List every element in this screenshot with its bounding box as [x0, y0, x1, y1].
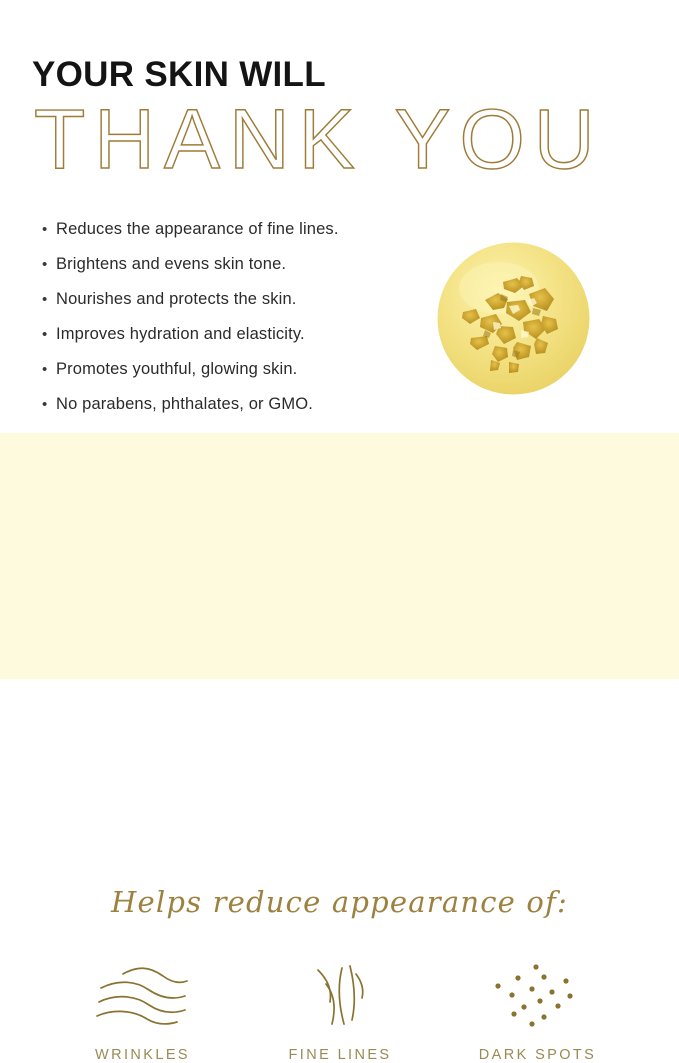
list-item: • Improves hydration and elasticity. [42, 317, 339, 352]
benefits-list: • Reduces the appearance of fine lines. … [42, 212, 339, 422]
bullet-icon: • [42, 387, 56, 422]
list-item-label: Promotes youthful, glowing skin. [56, 352, 297, 387]
benefits-band: Helps reduce appearance of: WRINKLES [0, 433, 679, 679]
bullet-icon: • [42, 352, 56, 387]
bullet-icon: • [42, 282, 56, 317]
wrinkles-waves-icon [91, 961, 195, 1029]
gold-foil-cream-swatch [437, 242, 590, 395]
list-item: • No parabens, phthalates, or GMO. [42, 387, 339, 422]
bullet-icon: • [42, 247, 56, 282]
list-item-label: No parabens, phthalates, or GMO. [56, 387, 313, 422]
list-item: • Nourishes and protects the skin. [42, 282, 339, 317]
headline-outline-thank-you: THANK YOU [34, 104, 646, 176]
list-item: • Reduces the appearance of fine lines. [42, 212, 339, 247]
band-heading-text: Helps reduce appearance of: [111, 885, 568, 919]
list-item-label: Nourishes and protects the skin. [56, 282, 297, 317]
feature-icon-row: WRINKLES FINE LINES [60, 961, 620, 1063]
promo-infographic: YOUR SKIN WILL THANK YOU • Reduces the a… [0, 0, 679, 679]
list-item: • Brightens and evens skin tone. [42, 247, 339, 282]
list-item-label: Brightens and evens skin tone. [56, 247, 286, 282]
list-item: • Promotes youthful, glowing skin. [42, 352, 339, 387]
dark-spots-dots-icon [492, 961, 584, 1029]
band-heading: Helps reduce appearance of: [0, 885, 679, 919]
feature-wrinkles: WRINKLES [60, 961, 225, 1063]
feature-label: WRINKLES [95, 1047, 190, 1063]
headline-outline-text: THANK YOU [34, 104, 604, 176]
feature-fine-lines: FINE LINES [258, 961, 423, 1063]
feature-label: FINE LINES [289, 1047, 392, 1063]
list-item-label: Reduces the appearance of fine lines. [56, 212, 339, 247]
bullet-icon: • [42, 212, 56, 247]
feature-dark-spots: DARK SPOTS [455, 961, 620, 1063]
feature-label: DARK SPOTS [479, 1047, 596, 1063]
page-title: YOUR SKIN WILL [32, 57, 326, 92]
list-item-label: Improves hydration and elasticity. [56, 317, 305, 352]
fine-lines-strokes-icon [304, 961, 376, 1029]
bullet-icon: • [42, 317, 56, 352]
